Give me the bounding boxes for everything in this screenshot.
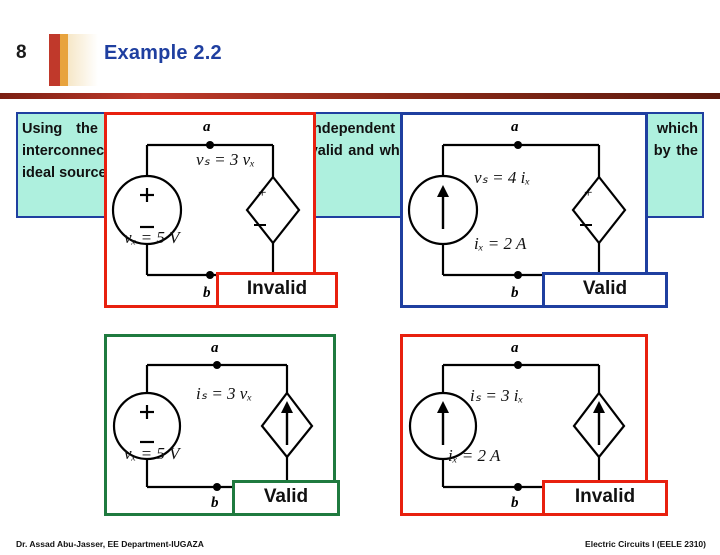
node-label-b: b [511,285,519,301]
node-dot-b [514,483,522,491]
footer-course: Electric Circuits I (EELE 2310) [585,539,706,549]
independent-label-top-left: vₓ = 5 V [124,228,179,248]
footer-author: Dr. Assad Abu-Jasser, EE Department-IUGA… [16,539,204,549]
independent-label-bottom-left: vₓ = 5 V [124,444,179,464]
node-dot-a [514,361,522,369]
header-accent-bar-orange [60,34,68,86]
node-label-a: a [511,340,519,356]
dependent-label-top-right: vₛ = 4 iₓ [474,168,530,188]
node-label-b: b [511,495,519,511]
node-dot-a [514,141,522,149]
node-dot-b [206,271,214,279]
node-dot-b [213,483,221,491]
header-accent-gradient [68,34,98,86]
verdict-badge-top-right: Valid [542,272,668,308]
page-title: Example 2.2 [104,42,222,65]
node-dot-b [514,271,522,279]
verdict-badge-bottom-left: Valid [232,480,340,516]
verdict-badge-bottom-right: Invalid [542,480,668,516]
slide-number: 8 [16,42,27,64]
node-label-a: a [203,119,211,135]
dependent-source-top-right [573,177,625,243]
header-accent-bar-red [49,34,60,86]
node-dot-a [213,361,221,369]
node-label-b: b [203,285,211,301]
dependent-plus-sign: + [258,185,266,201]
verdict-badge-top-left: Invalid [216,272,338,308]
dependent-label-bottom-left: iₛ = 3 vₓ [196,384,252,404]
node-dot-a [206,141,214,149]
dependent-source-top-left [247,177,299,243]
node-label-a: a [211,340,219,356]
independent-label-top-right: iₓ = 2 A [474,234,526,254]
node-label-b: b [211,495,219,511]
dependent-label-top-left: vₛ = 3 vₓ [196,150,255,170]
independent-label-bottom-right: iₓ = 2 A [448,446,500,466]
dependent-plus-sign: + [584,185,592,201]
node-label-a: a [511,119,519,135]
header-divider [0,93,720,99]
dependent-label-bottom-right: iₛ = 3 iₓ [470,386,523,406]
